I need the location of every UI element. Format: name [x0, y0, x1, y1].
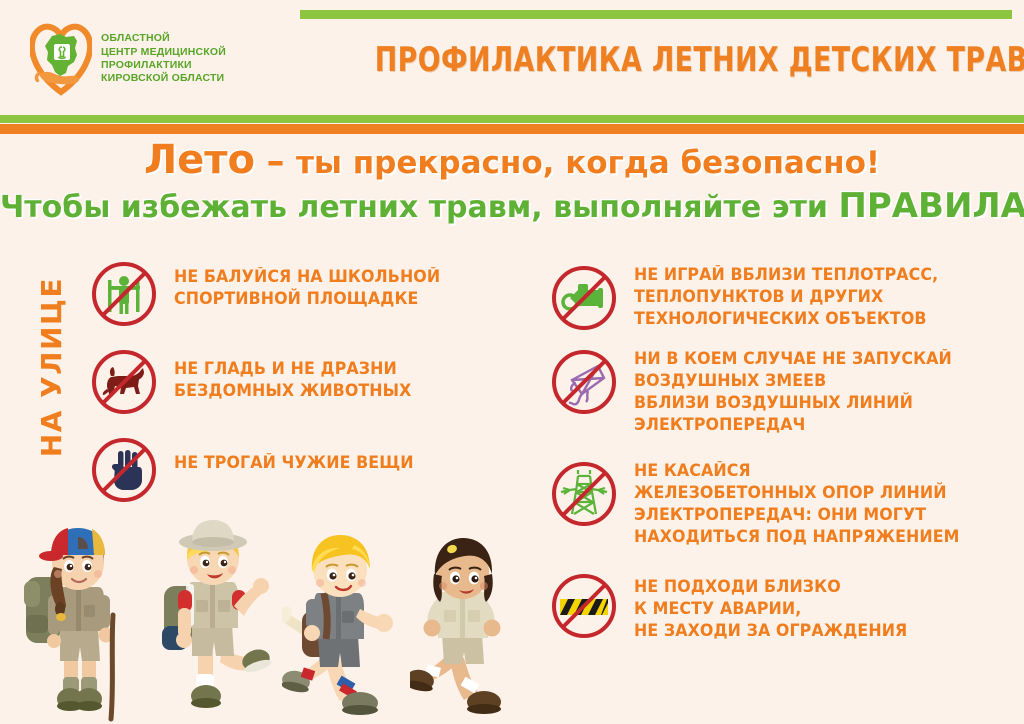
poster-title-wrap: ПРОФИЛАКТИКА ЛЕТНИХ ДЕТСКИХ ТРАВМ	[300, 40, 1012, 80]
blond-boy-running-with-backpack	[282, 529, 410, 724]
section-label-text: НА УЛИЦЕ	[35, 277, 68, 457]
divider-stripe-orange	[0, 124, 1024, 134]
heart-map-hand-logo-icon	[30, 22, 92, 96]
rule-item: НЕ ПОДХОДИ БЛИЗКО К МЕСТУ АВАРИИ, НЕ ЗАХ…	[548, 570, 1018, 642]
section-label-outdoors: НА УЛИЦЕ	[31, 262, 71, 472]
rule-item: НЕ ИГРАЙ ВБЛИЗИ ТЕПЛОТРАСС, ТЕПЛОПУНКТОВ…	[548, 262, 1018, 334]
divider-stripe-green	[0, 115, 1024, 123]
rule-item: НЕ КАСАЙСЯ ЖЕЛЕЗОБЕТОННЫХ ОПОР ЛИНИЙ ЭЛЕ…	[548, 458, 1018, 548]
poster-canvas: ОБЛАСТНОЙ ЦЕНТР МЕДИЦИНСКОЙ ПРОФИЛАКТИКИ…	[0, 0, 1024, 724]
rule-text: НЕ ПОДХОДИ БЛИЗКО К МЕСТУ АВАРИИ, НЕ ЗАХ…	[634, 570, 907, 642]
rule-text: НЕ КАСАЙСЯ ЖЕЛЕЗОБЕТОННЫХ ОПОР ЛИНИЙ ЭЛЕ…	[634, 458, 960, 548]
subtitle-line-2-lead: Чтобы избежать летних травм, выполняйте …	[0, 190, 838, 225]
organization-logo-block: ОБЛАСТНОЙ ЦЕНТР МЕДИЦИНСКОЙ ПРОФИЛАКТИКИ…	[30, 22, 226, 96]
heating-pipeline-prohibited-icon	[548, 262, 620, 334]
kite-prohibited-icon	[548, 346, 620, 418]
boy-hiker-with-safari-hat	[150, 516, 276, 724]
subtitle-line-2: Чтобы избежать летних травм, выполняйте …	[0, 185, 1024, 229]
children-illustration-group	[0, 494, 560, 724]
girl-hiker-with-cap-and-walking-stick	[18, 519, 138, 724]
rule-text: НЕ ТРОГАЙ ЧУЖИЕ ВЕЩИ	[174, 434, 414, 474]
poster-header: ОБЛАСТНОЙ ЦЕНТР МЕДИЦИНСКОЙ ПРОФИЛАКТИКИ…	[0, 0, 1024, 112]
rule-text: НИ В КОЕМ СЛУЧАЕ НЕ ЗАПУСКАЙ ВОЗДУШНЫХ З…	[634, 346, 952, 436]
rule-text: НЕ БАЛУЙСЯ НА ШКОЛЬНОЙ СПОРТИВНОЙ ПЛОЩАД…	[174, 258, 440, 310]
rule-item: НЕ ГЛАДЬ И НЕ ДРАЗНИ БЕЗДОМНЫХ ЖИВОТНЫХ	[88, 346, 508, 418]
rules-column-right: НЕ ИГРАЙ ВБЛИЗИ ТЕПЛОТРАСС, ТЕПЛОПУНКТОВ…	[548, 262, 1018, 654]
subtitle-word-rules: ПРАВИЛА	[838, 186, 1024, 226]
playground-bars-prohibited-icon	[88, 258, 160, 330]
dark-haired-girl-running	[410, 534, 528, 724]
subtitle-block: Лето – ты прекрасно, когда безопасно! Чт…	[0, 138, 1024, 229]
rule-text: НЕ ИГРАЙ ВБЛИЗИ ТЕПЛОТРАСС, ТЕПЛОПУНКТОВ…	[634, 262, 938, 330]
rules-column-left: НЕ БАЛУЙСЯ НА ШКОЛЬНОЙ СПОРТИВНОЙ ПЛОЩАД…	[88, 258, 508, 520]
organization-name-text: ОБЛАСТНОЙ ЦЕНТР МЕДИЦИНСКОЙ ПРОФИЛАКТИКИ…	[101, 32, 226, 86]
subtitle-dash: –	[266, 141, 284, 182]
rule-text: НЕ ГЛАДЬ И НЕ ДРАЗНИ БЕЗДОМНЫХ ЖИВОТНЫХ	[174, 346, 411, 402]
stray-dog-prohibited-icon	[88, 346, 160, 418]
rule-item: НИ В КОЕМ СЛУЧАЕ НЕ ЗАПУСКАЙ ВОЗДУШНЫХ З…	[548, 346, 1018, 436]
rule-item: НЕ БАЛУЙСЯ НА ШКОЛЬНОЙ СПОРТИВНОЙ ПЛОЩАД…	[88, 258, 508, 330]
subtitle-word-summer: Лето	[144, 137, 255, 183]
subtitle-line-1-rest: ты прекрасно, когда безопасно!	[296, 145, 880, 181]
page-title: ПРОФИЛАКТИКА ЛЕТНИХ ДЕТСКИХ ТРАВМ	[375, 40, 937, 80]
subtitle-line-1: Лето – ты прекрасно, когда безопасно!	[0, 138, 1024, 185]
